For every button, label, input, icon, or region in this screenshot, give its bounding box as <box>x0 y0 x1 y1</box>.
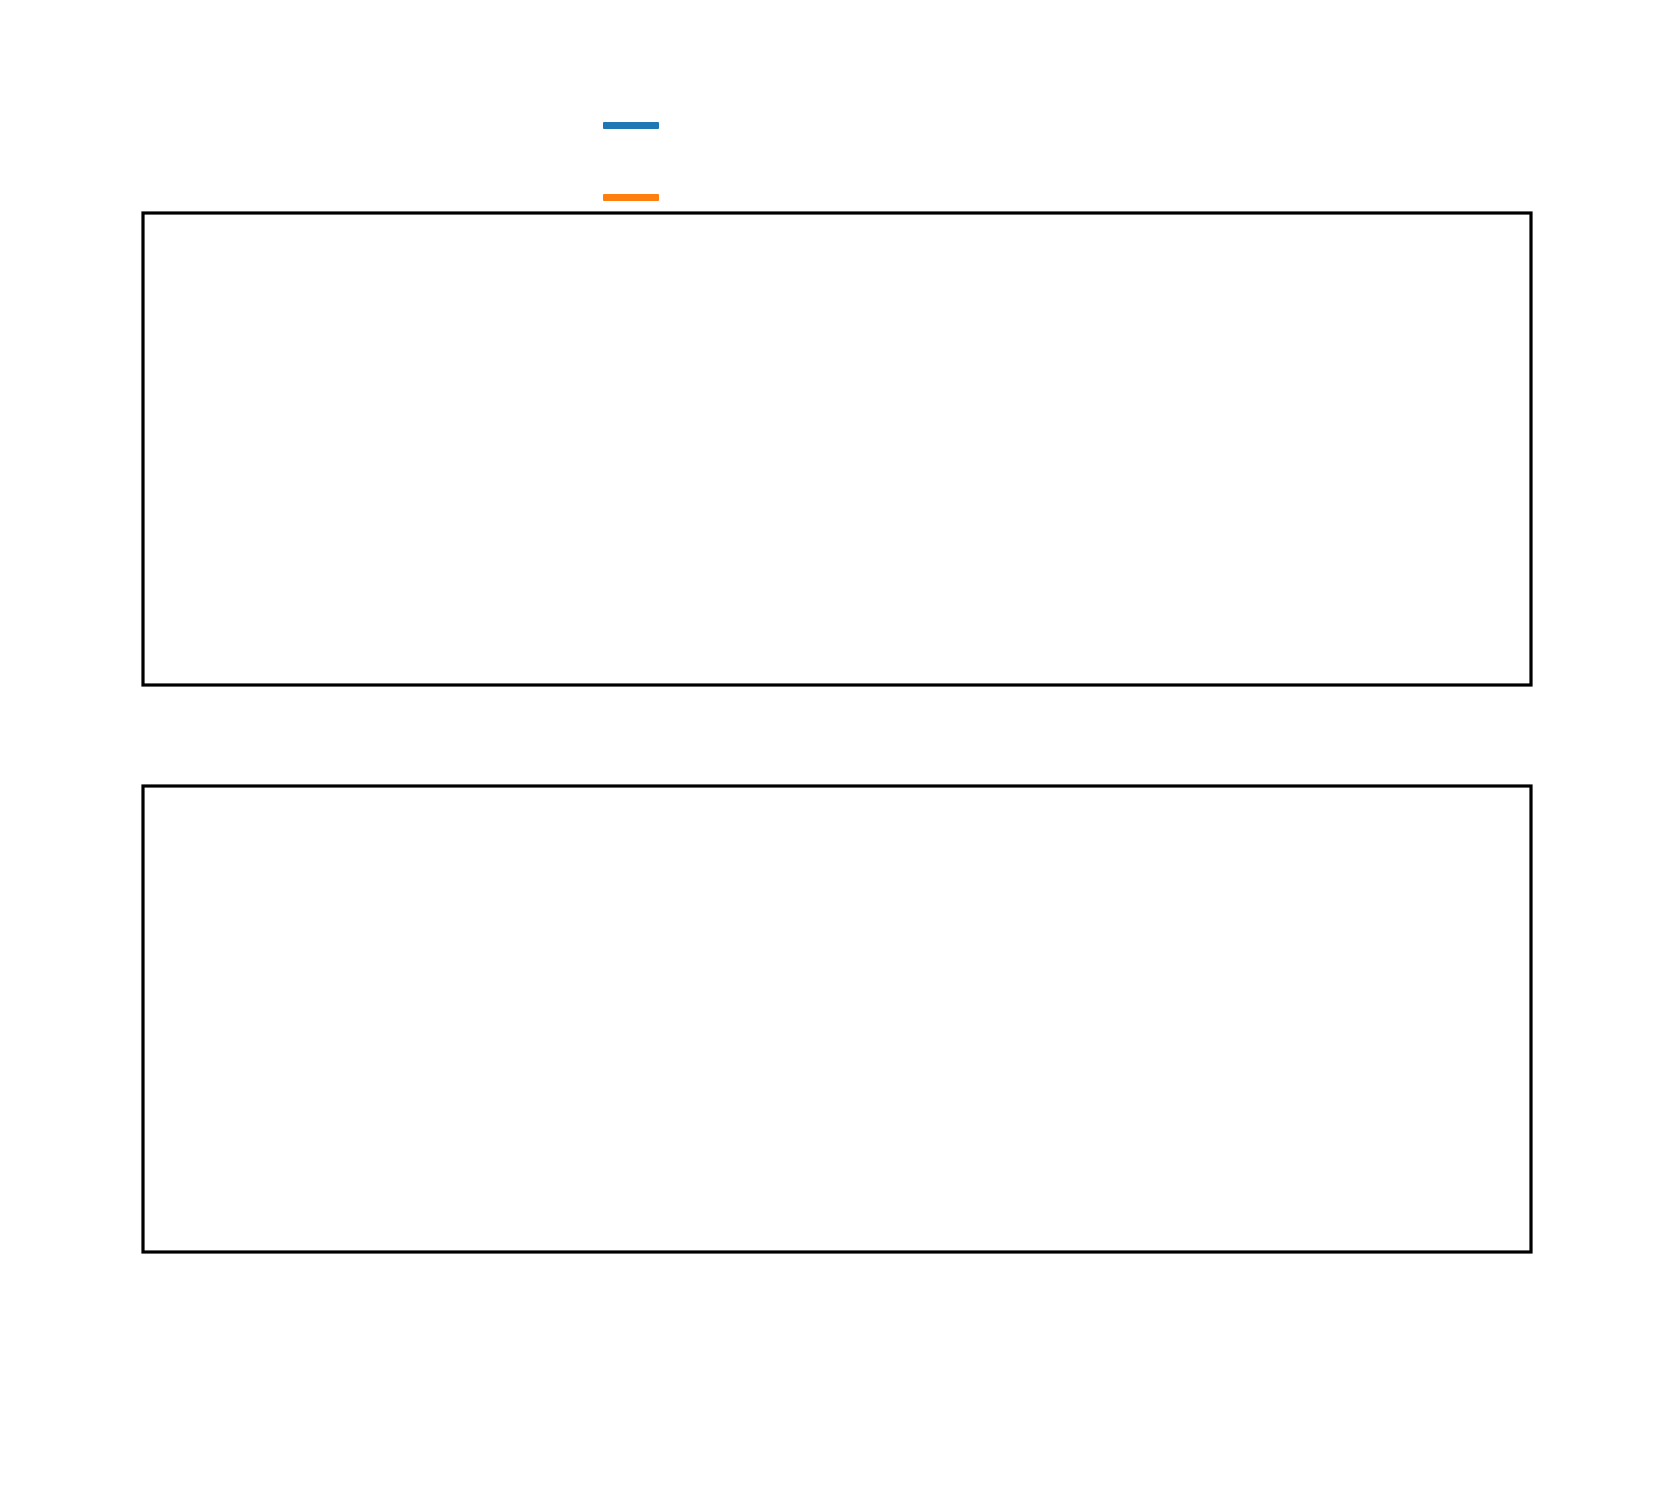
figure-canvas <box>0 0 1673 1496</box>
bottom-axes <box>143 786 1531 1252</box>
top-axes-frame <box>143 213 1531 685</box>
plots-svg <box>0 0 1673 1496</box>
top-axes <box>143 213 1531 685</box>
bottom-axes-frame <box>143 786 1531 1252</box>
